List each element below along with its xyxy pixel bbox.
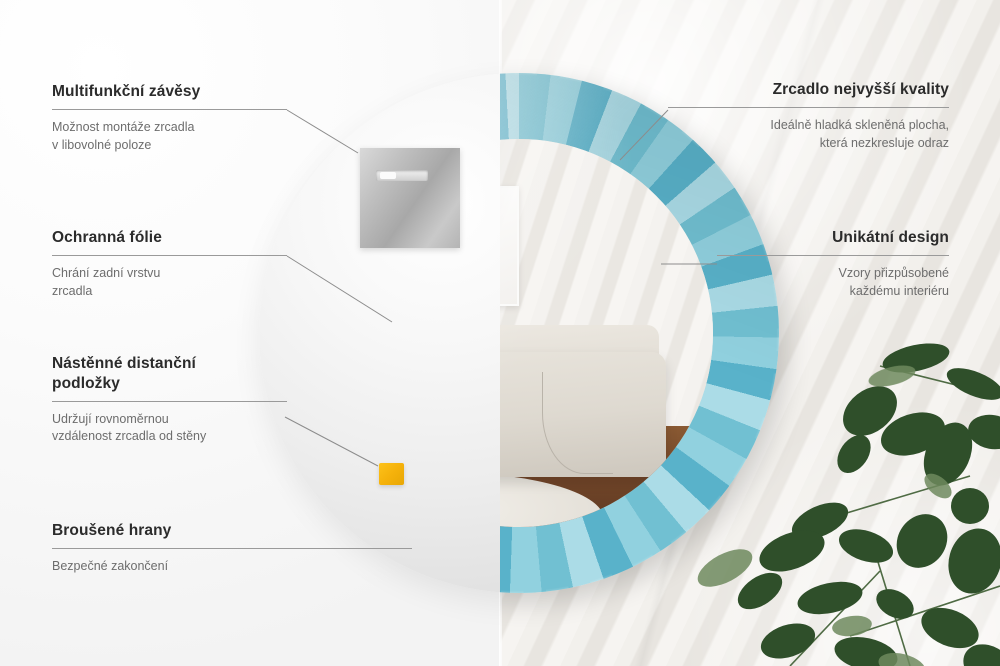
feature-rule [668, 107, 949, 108]
feature-desc-line-1: Udržují rovnoměrnou [52, 411, 287, 429]
feature-title: Broušené hrany [52, 521, 412, 541]
feature-brousene-hrany[interactable]: Broušené hrany Bezpečné zakončení [52, 521, 412, 576]
feature-desc-line-1: Ideálně hladká skleněná plocha, [668, 117, 949, 135]
feature-title: Ochranná fólie [52, 228, 287, 248]
feature-rule [52, 255, 287, 256]
feature-desc-line-1: Vzory přizpůsobené [717, 265, 949, 283]
feature-rule [717, 255, 949, 256]
feature-title: Multifunkční závěsy [52, 82, 287, 102]
feature-ochranna-folie[interactable]: Ochranná fólie Chrání zadní vrstvu zrcad… [52, 228, 287, 300]
feature-desc-line-1: Chrání zadní vrstvu [52, 265, 287, 283]
feature-rule [52, 548, 412, 549]
feature-rule [52, 401, 287, 402]
feature-nastenne-distancni-podlozky[interactable]: Nástěnné distanční podložky Udržují rovn… [52, 354, 287, 446]
feature-title-line-1: Nástěnné distanční [52, 354, 287, 374]
hanger-keyhole-slot [376, 170, 428, 181]
infographic-canvas: Multifunkční závěsy Možnost montáže zrca… [0, 0, 1000, 666]
feature-multifunkcni-zavesy[interactable]: Multifunkční závěsy Možnost montáže zrca… [52, 82, 287, 154]
feature-desc-line-1: Bezpečné zakončení [52, 558, 412, 576]
feature-zrcadlo-nejvyssi-kvality[interactable]: Zrcadlo nejvyšší kvality Ideálně hladká … [668, 80, 949, 152]
spacer-pad [379, 463, 404, 485]
feature-title: Unikátní design [717, 228, 949, 248]
feature-desc-line-2: v libovolné poloze [52, 137, 287, 155]
feature-desc-line-2: zrcadla [52, 283, 287, 301]
foliage-decoration [670, 336, 1000, 666]
feature-desc-line-2: která nezkresluje odraz [668, 135, 949, 153]
feature-title: Zrcadlo nejvyšší kvality [668, 80, 949, 100]
feature-unikatni-design[interactable]: Unikátní design Vzory přizpůsobené každé… [717, 228, 949, 300]
feature-desc-line-1: Možnost montáže zrcadla [52, 119, 287, 137]
feature-desc-line-2: vzdálenost zrcadla od stěny [52, 428, 287, 446]
feature-title-line-2: podložky [52, 374, 287, 394]
hanger-plate [360, 148, 460, 248]
feature-rule [52, 109, 287, 110]
feature-desc-line-2: každému interiéru [717, 283, 949, 301]
